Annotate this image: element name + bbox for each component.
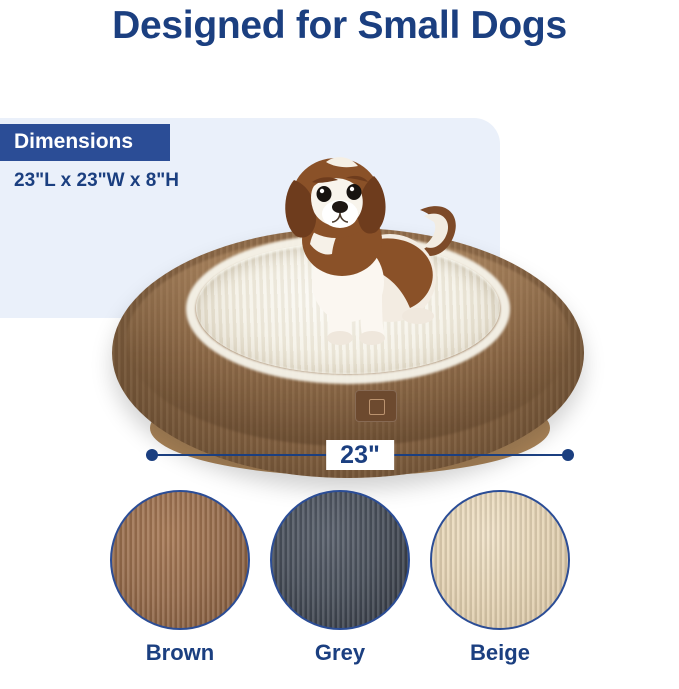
swatch-brown-texture — [112, 492, 248, 628]
brand-logo-tag — [355, 390, 397, 422]
dog-illustration — [270, 132, 470, 362]
swatch-beige-circle[interactable] — [430, 490, 570, 630]
measure-endpoint-right-icon — [562, 449, 574, 461]
page-title: Designed for Small Dogs — [0, 4, 679, 48]
swatch-brown[interactable]: Brown — [100, 490, 260, 666]
swatch-grey-label: Grey — [260, 640, 420, 666]
swatch-brown-circle[interactable] — [110, 490, 250, 630]
swatch-beige-texture — [432, 492, 568, 628]
product-infographic: Designed for Small Dogs Dimensions 23"L … — [0, 0, 679, 689]
swatch-grey[interactable]: Grey — [260, 490, 420, 666]
color-swatch-row: Brown Grey Beige — [0, 490, 679, 689]
swatch-brown-label: Brown — [100, 640, 260, 666]
measure-label: 23" — [326, 440, 394, 470]
swatch-grey-circle[interactable] — [270, 490, 410, 630]
swatch-beige[interactable]: Beige — [420, 490, 580, 666]
product-photo — [0, 60, 679, 440]
swatch-beige-label: Beige — [420, 640, 580, 666]
swatch-grey-texture — [272, 492, 408, 628]
width-measurement: 23" — [146, 440, 574, 470]
